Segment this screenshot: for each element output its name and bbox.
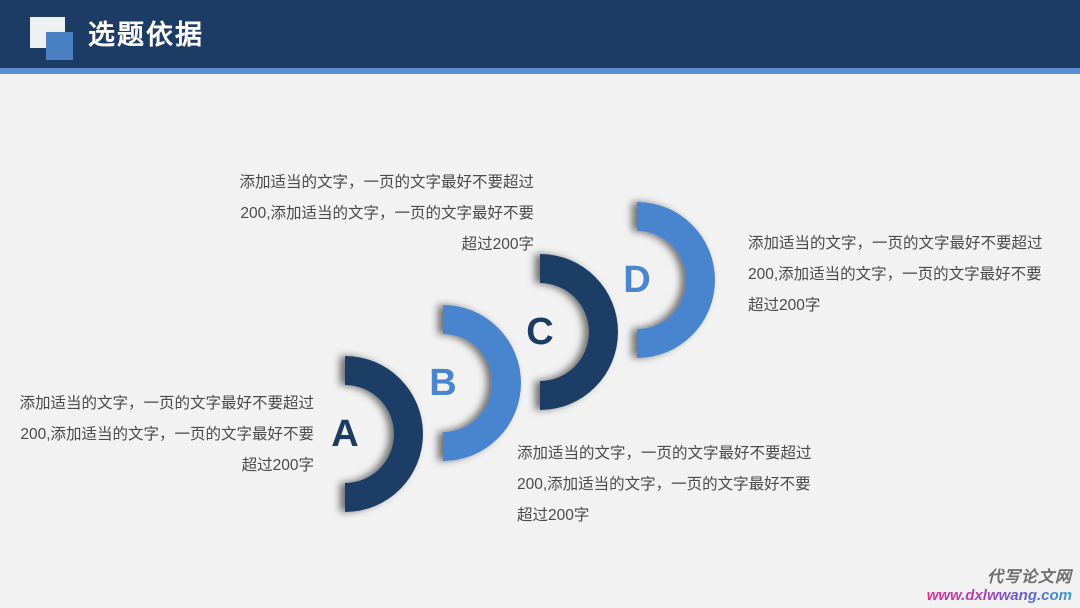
caption-d: 添加适当的文字，一页的文字最好不要超过200,添加适当的文字，一页的文字最好不要… [748, 228, 1048, 321]
arc-letter-a: A [325, 415, 365, 453]
arc-letter-d: D [617, 261, 657, 299]
watermark: 代写论文网 www.dxlwwang.com [927, 570, 1072, 604]
arc-letter-c: C [520, 313, 560, 351]
arc-item-d[interactable]: D [559, 202, 715, 358]
caption-c: 添加适当的文字，一页的文字最好不要超过200,添加适当的文字，一页的文字最好不要… [517, 438, 817, 531]
caption-a: 添加适当的文字，一页的文字最好不要超过200,添加适当的文字，一页的文字最好不要… [14, 388, 314, 481]
watermark-url: www.dxlwwang.com [927, 588, 1072, 604]
arc-letter-b: B [423, 364, 463, 402]
watermark-title: 代写论文网 [927, 570, 1072, 587]
caption-b: 添加适当的文字，一页的文字最好不要超过200,添加适当的文字，一页的文字最好不要… [234, 167, 534, 260]
